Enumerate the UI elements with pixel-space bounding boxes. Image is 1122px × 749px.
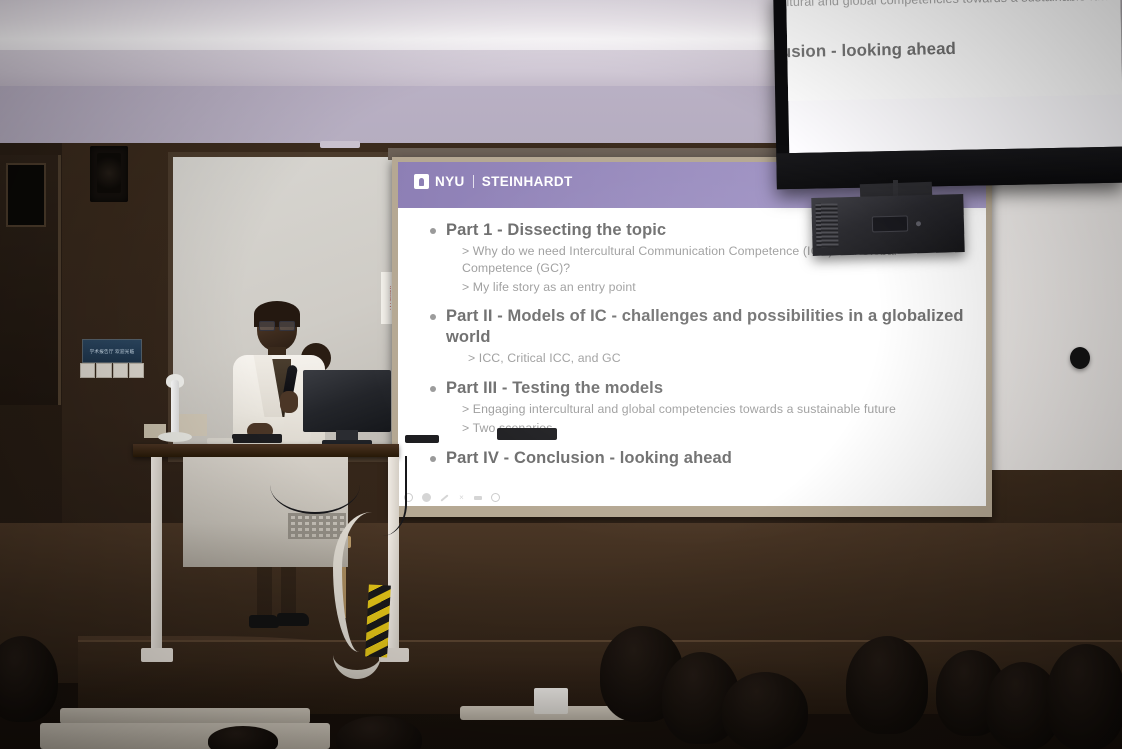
audience-head bbox=[208, 726, 278, 749]
slide-heading: Part IV - Conclusion - looking ahead bbox=[786, 38, 956, 65]
nyu-torch-icon bbox=[414, 174, 429, 189]
audience-head bbox=[722, 672, 808, 749]
close-icon[interactable]: × bbox=[458, 494, 465, 501]
slide-bullet-row: Part II - Models of IC - challenges and … bbox=[416, 306, 968, 348]
presenter-shoe-right bbox=[277, 613, 309, 626]
slide-block-2: Part II - Models of IC - challenges and … bbox=[416, 306, 968, 367]
podium-vent bbox=[288, 513, 346, 539]
caution-stripe-marker bbox=[365, 584, 391, 657]
ceiling-fixture bbox=[320, 141, 360, 148]
desk-remote[interactable] bbox=[405, 435, 439, 443]
audience-desk bbox=[40, 723, 330, 749]
audience-desk bbox=[60, 708, 310, 724]
podium-monitor[interactable] bbox=[303, 370, 391, 432]
side-door[interactable] bbox=[0, 155, 61, 405]
slide-heading-rest: - Dissecting the topic bbox=[492, 221, 666, 239]
mirrored-slide-body: Part 1 - Dissecting the topic > Why do w… bbox=[786, 0, 1122, 104]
notice-card bbox=[96, 363, 111, 378]
slide-heading: Part IV - Conclusion - looking ahead bbox=[446, 448, 732, 469]
bullet-icon bbox=[430, 456, 436, 462]
mirrored-slide: NYU STEINHARDT Part 1 - Dissecting the t… bbox=[786, 0, 1122, 104]
slide-control-bar[interactable]: × bbox=[404, 493, 500, 502]
more-options-icon[interactable] bbox=[491, 493, 500, 502]
ceiling-projector bbox=[811, 194, 964, 256]
slide-heading-bold: Part 1 bbox=[446, 221, 492, 239]
mirrored-block-3: Part III - Testing the models > Engaging… bbox=[786, 0, 1122, 33]
notice-card bbox=[113, 363, 128, 378]
slide-bullet-row: Part IV - Conclusion - looking ahead bbox=[416, 448, 968, 469]
confidence-monitor-screen: NYU STEINHARDT Part 1 - Dissecting the t… bbox=[786, 0, 1122, 153]
microphone-stand bbox=[171, 380, 179, 436]
projector-vent bbox=[815, 203, 838, 248]
wall-speaker-left-icon bbox=[90, 146, 128, 202]
wall-poster: 学术报告厅 欢迎光临 bbox=[82, 339, 142, 363]
glasses-lens-right-icon bbox=[279, 321, 295, 331]
presenter-hand-right bbox=[280, 391, 298, 413]
mirrored-block-4: Part IV - Conclusion - looking ahead bbox=[786, 34, 1122, 66]
microphone-base bbox=[158, 432, 192, 442]
logo-school-text: STEINHARDT bbox=[482, 174, 573, 189]
slide-heading-rest: - Conclusion - looking ahead bbox=[786, 39, 956, 62]
logo-divider bbox=[473, 175, 474, 188]
audience-laptop bbox=[534, 688, 568, 714]
bullet-icon bbox=[430, 386, 436, 392]
wall-notice-cards bbox=[80, 363, 144, 378]
slide-heading-rest: - Models of IC - challenges and possibil… bbox=[446, 307, 964, 346]
projector-lens-icon bbox=[872, 215, 908, 232]
audience-head bbox=[846, 636, 928, 734]
podium-leg-left bbox=[151, 457, 162, 657]
slide-subpoint: > Engaging intercultural and global comp… bbox=[416, 401, 968, 418]
slide-subpoint: > ICC, Critical ICC, and GC bbox=[416, 350, 968, 367]
notice-card bbox=[129, 363, 144, 378]
projector-led-icon bbox=[916, 221, 921, 226]
slide-heading: Part 1 - Dissecting the topic bbox=[446, 220, 666, 241]
bullet-icon bbox=[430, 228, 436, 234]
slide-block-4: Part IV - Conclusion - looking ahead bbox=[416, 448, 968, 469]
logo-nyu-text: NYU bbox=[435, 174, 465, 189]
monitor-bezel bbox=[776, 147, 1122, 190]
laser-pointer-icon[interactable] bbox=[422, 493, 431, 502]
bullet-icon bbox=[430, 314, 436, 320]
desk-keyboard[interactable] bbox=[497, 428, 557, 440]
slide-heading-rest: - Testing the models bbox=[497, 379, 663, 397]
slide-heading-bold: Part III bbox=[446, 379, 497, 397]
notice-card bbox=[80, 363, 95, 378]
slide-subpoint: > My life story as an entry point bbox=[416, 279, 968, 296]
slide-heading: Part III - Testing the models bbox=[446, 378, 663, 399]
glasses-lens-left-icon bbox=[259, 321, 275, 331]
screenshot-root: 学术报告厅 欢迎光临 注意安全 禁止吸烟 注意安全 禁止吸烟 NYU STEIN… bbox=[0, 0, 1122, 749]
wall-speaker-right-icon bbox=[1070, 347, 1090, 369]
wall-poster-text: 学术报告厅 欢迎光临 bbox=[90, 349, 135, 354]
slide-heading: Part II - Models of IC - challenges and … bbox=[446, 306, 968, 348]
slide-bullet-row: Part III - Testing the models bbox=[416, 378, 968, 399]
slide-heading-bold: Part IV bbox=[446, 449, 499, 467]
desk-remote[interactable] bbox=[232, 434, 282, 443]
audience-head bbox=[1046, 644, 1122, 749]
nyu-steinhardt-logo: NYU STEINHARDT bbox=[414, 174, 573, 189]
presenter-shoe-left bbox=[249, 615, 279, 628]
slide-heading-rest: - Conclusion - looking ahead bbox=[499, 449, 732, 467]
slide-bullet-row: Part IV - Conclusion - looking ahead bbox=[786, 34, 1122, 66]
slide-bar-icon[interactable] bbox=[474, 496, 482, 500]
door-window bbox=[6, 163, 46, 227]
slide-heading-bold: Part II bbox=[446, 307, 493, 325]
confidence-monitor: NYU STEINHARDT Part 1 - Dissecting the t… bbox=[773, 0, 1122, 189]
pen-icon[interactable] bbox=[440, 494, 448, 501]
confidence-monitor-slide: NYU STEINHARDT Part 1 - Dissecting the t… bbox=[786, 0, 1122, 104]
